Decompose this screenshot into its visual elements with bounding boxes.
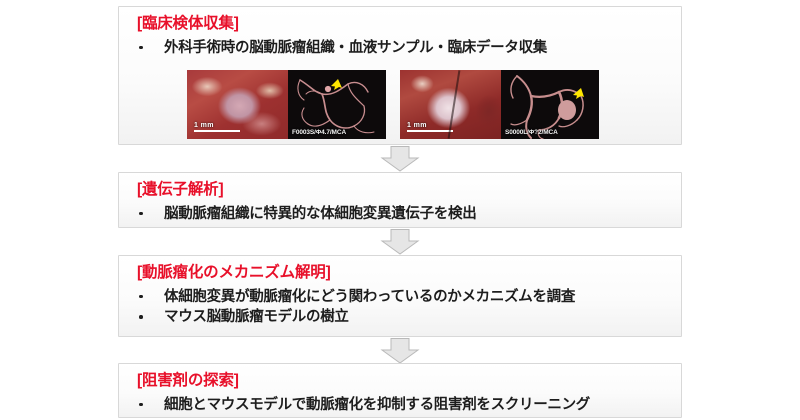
angiography-image-2: S0000L/Φ?2/MCA [501,70,599,139]
workflow-step-1: [臨床検体収集] 外科手術時の脳動脈瘤組織・血液サンプル・臨床データ収集 1 m… [118,6,682,145]
angiography-2-caption: S0000L/Φ?2/MCA [505,129,558,136]
specimen-pair-1: 1 mm [187,70,386,139]
operative-photo-1: 1 mm [187,70,288,139]
angiography-1-caption: F0003S/Φ4.7/MCA [292,129,346,136]
step-3-heading: [動脈瘤化のメカニズム解明] [119,256,681,281]
step-4-bullet-1: 細胞とマウスモデルで動脈瘤化を抑制する阻害剤をスクリーニング [119,397,681,414]
step-3-bullet-list: 体細胞変異が動脈瘤化にどう関わっているのかメカニズムを調査 マウス脳動脈瘤モデル… [119,289,681,326]
step-1-heading: [臨床検体収集] [119,7,681,32]
workflow-step-4: [阻害剤の探索] 細胞とマウスモデルで動脈瘤化を抑制する阻害剤をスクリーニング [118,363,682,418]
research-workflow-diagram: [臨床検体収集] 外科手術時の脳動脈瘤組織・血液サンプル・臨床データ収集 1 m… [0,0,800,420]
arrow-step-2-to-3 [380,229,420,255]
arrow-step-1-to-2 [380,146,420,172]
scale-bar-1-label: 1 mm [194,122,214,129]
clinical-specimen-image-strip: 1 mm [187,70,599,139]
scale-bar-2: 1 mm [407,122,453,132]
step-2-bullet-1: 脳動脈瘤組織に特異的な体細胞変異遺伝子を検出 [119,206,681,223]
step-1-bullet-1: 外科手術時の脳動脈瘤組織・血液サンプル・臨床データ収集 [119,40,681,57]
step-4-bullet-list: 細胞とマウスモデルで動脈瘤化を抑制する阻害剤をスクリーニング [119,397,681,414]
step-2-heading: [遺伝子解析] [119,173,681,198]
step-3-bullet-2: マウス脳動脈瘤モデルの樹立 [119,309,681,326]
workflow-step-2: [遺伝子解析] 脳動脈瘤組織に特異的な体細胞変異遺伝子を検出 [118,172,682,228]
arrow-step-3-to-4 [380,338,420,364]
step-1-bullet-list: 外科手術時の脳動脈瘤組織・血液サンプル・臨床データ収集 [119,40,681,57]
specimen-pair-2: 1 mm [400,70,599,139]
scale-bar-2-label: 1 mm [407,122,427,129]
scale-bar-1: 1 mm [194,122,240,132]
arrow-pointer-1 [331,79,342,90]
scale-bar-2-line [407,130,453,132]
step-2-bullet-list: 脳動脈瘤組織に特異的な体細胞変異遺伝子を検出 [119,206,681,223]
angiography-image-1: F0003S/Φ4.7/MCA [288,70,386,139]
workflow-step-3: [動脈瘤化のメカニズム解明] 体細胞変異が動脈瘤化にどう関わっているのかメカニズ… [118,255,682,337]
aneurysm-marker-1 [325,86,331,92]
aneurysm-marker-2 [558,100,576,120]
scale-bar-1-line [194,130,240,132]
step-4-heading: [阻害剤の探索] [119,364,681,389]
step-3-bullet-1: 体細胞変異が動脈瘤化にどう関わっているのかメカニズムを調査 [119,289,681,306]
operative-photo-2: 1 mm [400,70,501,139]
